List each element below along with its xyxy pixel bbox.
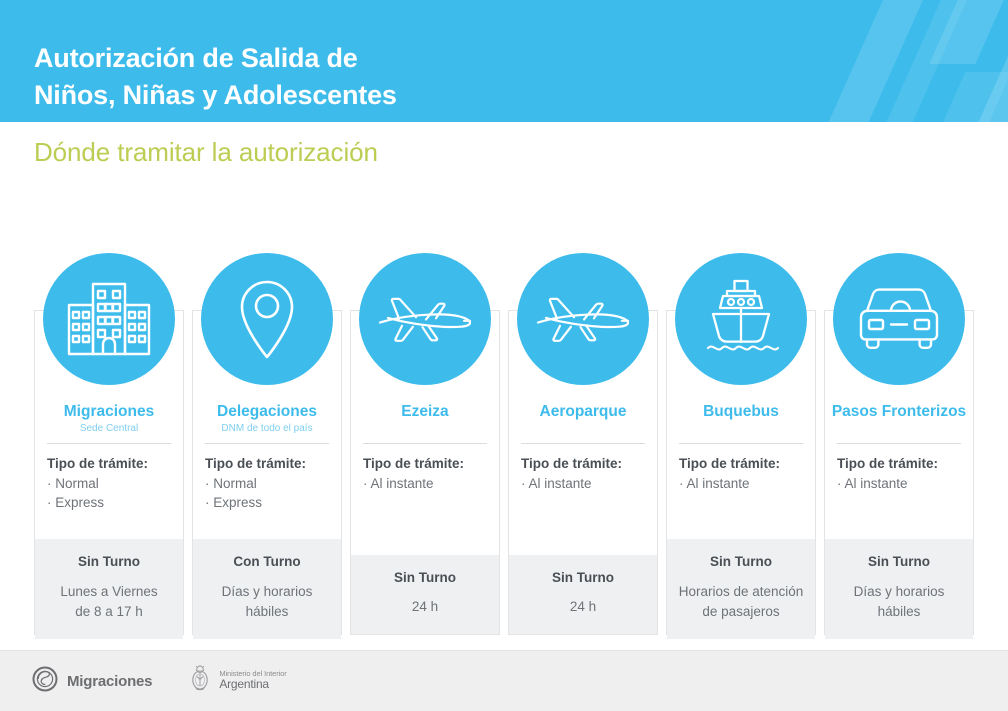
card-schedule-footer: Sin Turno Días y horarioshábiles [825,539,973,639]
tramite-block: Tipo de trámite: · Al instante [825,444,973,493]
card-subtitle: DNM de todo el país [221,423,312,435]
turno-title: Sin Turno [359,569,491,587]
card-title: Buquebus [703,403,779,420]
map-pin-icon-circle [201,253,333,385]
tramite-label: Tipo de trámite: [837,454,961,474]
tramite-label: Tipo de trámite: [521,454,645,474]
tramite-item: · Al instante [363,474,487,494]
schedule-line: 24 h [359,597,491,618]
ship-icon [703,278,779,360]
card-title: Ezeiza [401,403,448,420]
tramite-item: · Normal [205,474,329,494]
tramite-label: Tipo de trámite: [679,454,803,474]
tramite-block: Tipo de trámite: · Normal· Express [35,444,183,513]
schedule-line: Lunes a Viernes [43,582,175,603]
tramite-block: Tipo de trámite: · Al instante [351,444,499,493]
turno-title: Sin Turno [833,553,965,571]
page-title: Autorización de Salida de Niños, Niñas y… [34,40,397,113]
tramite-label: Tipo de trámite: [47,454,171,474]
card-body: Aeroparque Tipo de trámite: · Al instant… [509,311,657,539]
schedule-line: hábiles [201,602,333,623]
building-icon-circle [43,253,175,385]
turno-title: Sin Turno [517,569,649,587]
card-title: Migraciones [64,403,154,420]
tramite-item: · Express [47,493,171,513]
schedule-text: 24 h [517,597,649,618]
tramite-block: Tipo de trámite: · Al instante [509,444,657,493]
card-body: Migraciones Sede Central Tipo de trámite… [35,311,183,539]
location-card[interactable]: Pasos Fronterizos Tipo de trámite: · Al … [824,310,974,635]
card-body: Buquebus Tipo de trámite: · Al instante [667,311,815,539]
header-decorative-pattern [808,0,1008,122]
card-subtitle: Sede Central [80,423,138,435]
card-schedule-footer: Con Turno Días y horarioshábiles [193,539,341,639]
car-icon [855,287,943,351]
location-card[interactable]: Aeroparque Tipo de trámite: · Al instant… [508,310,658,635]
turno-title: Con Turno [201,553,333,571]
schedule-line: hábiles [833,602,965,623]
car-icon-circle [833,253,965,385]
page-title-line-2: Niños, Niñas y Adolescentes [34,77,397,114]
argentina-coat-of-arms-icon [188,664,212,699]
turno-title: Sin Turno [43,553,175,571]
tramite-item: · Al instante [837,474,961,494]
tramite-item: · Normal [47,474,171,494]
infographic-page: Autorización de Salida de Niños, Niñas y… [0,0,1008,711]
card-body: Delegaciones DNM de todo el país Tipo de… [193,311,341,539]
schedule-line: de 8 a 17 h [43,602,175,623]
globe-icon [32,666,58,697]
airplane-icon-circle [359,253,491,385]
schedule-text: Días y horarioshábiles [201,582,333,624]
tramite-item: · Express [205,493,329,513]
footer-bar: Migraciones Ministerio del Interior Arg [0,650,1008,711]
schedule-text: Días y horarioshábiles [833,582,965,624]
card-title: Aeroparque [540,403,627,420]
card-schedule-footer: Sin Turno 24 h [351,555,499,634]
location-card[interactable]: Buquebus Tipo de trámite: · Al instante … [666,310,816,635]
card-schedule-footer: Sin Turno Horarios de atenciónde pasajer… [667,539,815,639]
card-title: Pasos Fronterizos [832,403,966,420]
ministerio-logo: Ministerio del Interior Argentina [188,664,286,699]
schedule-line: de pasajeros [675,602,807,623]
card-schedule-footer: Sin Turno Lunes a Viernesde 8 a 17 h [35,539,183,639]
schedule-line: Días y horarios [201,582,333,603]
section-subtitle: Dónde tramitar la autorización [34,138,378,167]
tramite-item: · Al instante [521,474,645,494]
turno-title: Sin Turno [675,553,807,571]
map-pin-icon [238,279,296,359]
schedule-line: Días y horarios [833,582,965,603]
migraciones-logo: Migraciones [32,666,152,697]
migraciones-label: Migraciones [67,673,152,690]
card-schedule-footer: Sin Turno 24 h [509,555,657,634]
location-card[interactable]: Ezeiza Tipo de trámite: · Al instante Si… [350,310,500,635]
tramite-label: Tipo de trámite: [205,454,329,474]
tramite-item: · Al instante [679,474,803,494]
tramite-block: Tipo de trámite: · Al instante [667,444,815,493]
ship-icon-circle [675,253,807,385]
airplane-icon [534,290,632,348]
schedule-line: 24 h [517,597,649,618]
page-title-line-1: Autorización de Salida de [34,40,397,77]
airplane-icon-circle [517,253,649,385]
card-body: Pasos Fronterizos Tipo de trámite: · Al … [825,311,973,539]
location-card[interactable]: Migraciones Sede Central Tipo de trámite… [34,310,184,635]
schedule-line: Horarios de atención [675,582,807,603]
schedule-text: 24 h [359,597,491,618]
location-card[interactable]: Delegaciones DNM de todo el país Tipo de… [192,310,342,635]
schedule-text: Lunes a Viernesde 8 a 17 h [43,582,175,624]
tramite-block: Tipo de trámite: · Normal· Express [193,444,341,513]
card-title: Delegaciones [217,403,317,420]
ministerio-line-2: Argentina [219,678,286,691]
card-body: Ezeiza Tipo de trámite: · Al instante [351,311,499,539]
tramite-label: Tipo de trámite: [363,454,487,474]
airplane-icon [376,290,474,348]
building-icon [66,281,152,357]
schedule-text: Horarios de atenciónde pasajeros [675,582,807,624]
locations-card-grid: Migraciones Sede Central Tipo de trámite… [34,310,974,635]
header-banner: Autorización de Salida de Niños, Niñas y… [0,0,1008,122]
